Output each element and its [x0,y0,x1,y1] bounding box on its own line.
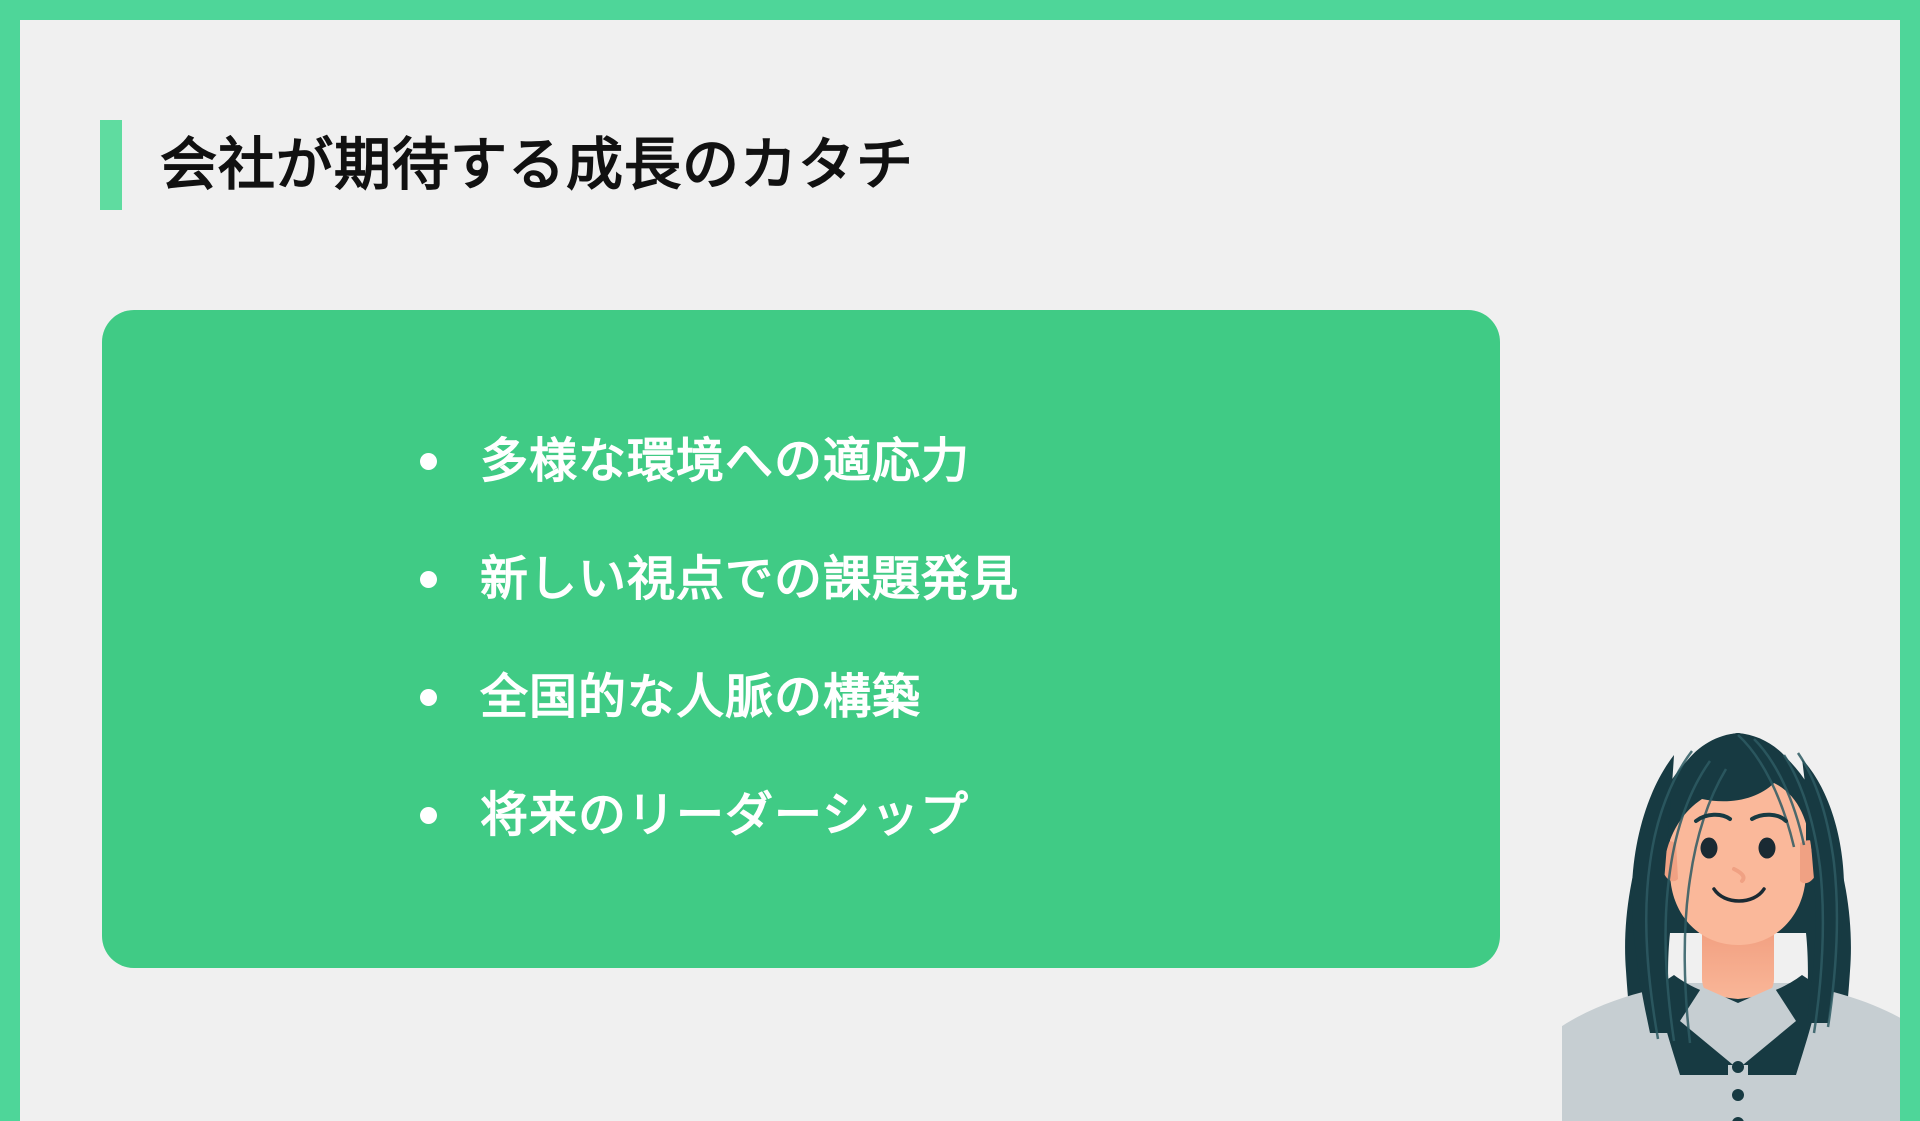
bullet-card: 多様な環境への適応力 新しい視点での課題発見 全国的な人脈の構築 将来のリーダー… [102,310,1500,968]
bullet-dot-icon [420,453,437,470]
slide-content-area: 会社が期待する成長のカタチ 多様な環境への適応力 新しい視点での課題発見 全国的… [20,20,1900,1121]
bullet-list: 多様な環境への適応力 新しい視点での課題発見 全国的な人脈の構築 将来のリーダー… [420,402,1019,874]
shirt-button [1732,1089,1744,1101]
page-title: 会社が期待する成長のカタチ [100,118,914,212]
slide-root: 会社が期待する成長のカタチ 多様な環境への適応力 新しい視点での課題発見 全国的… [0,0,1920,1121]
list-item-label: 多様な環境への適応力 [480,437,970,485]
list-item-label: 全国的な人脈の構築 [480,673,921,721]
bullet-dot-icon [420,807,437,824]
list-item: 全国的な人脈の構築 [420,638,1019,756]
list-item: 新しい視点での課題発見 [420,520,1019,638]
bullet-dot-icon [420,571,437,588]
woman-portrait-illustration [1562,703,1900,1121]
list-item: 将来のリーダーシップ [420,756,1019,874]
eye-right [1759,838,1776,859]
shirt-button [1732,1061,1744,1073]
list-item-label: 新しい視点での課題発見 [480,555,1019,603]
bullet-dot-icon [420,689,437,706]
title-text: 会社が期待する成長のカタチ [160,137,914,194]
eye-left [1701,838,1718,859]
list-item-label: 将来のリーダーシップ [480,791,969,839]
title-accent-bar [100,120,122,210]
list-item: 多様な環境への適応力 [420,402,1019,520]
